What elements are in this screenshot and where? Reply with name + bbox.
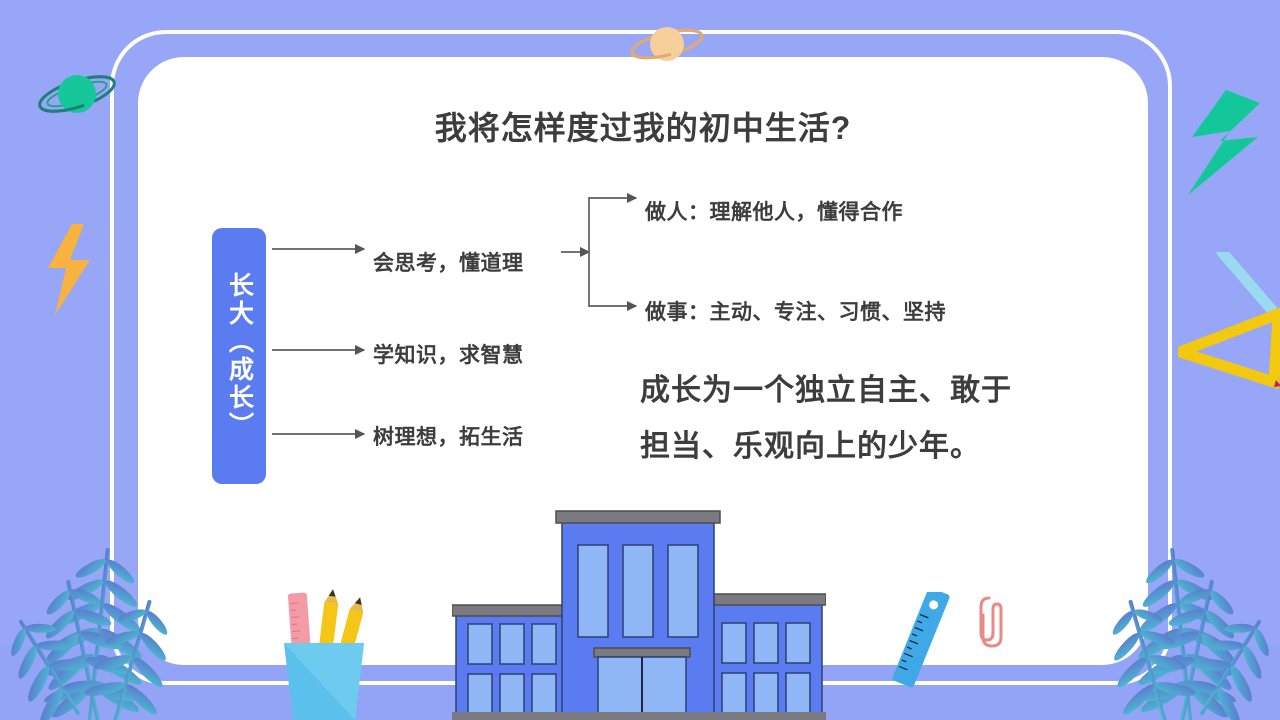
conclusion-line-2: 担当、乐观向上的少年。 [640, 419, 1060, 475]
palm-leaves-left-icon [0, 548, 230, 720]
slide-canvas: 我将怎样度过我的初中生活? 长大（成长） 会思考，懂道理 学知识，求智慧 树理想… [0, 0, 1280, 720]
triangle-ruler-and-pencil-group [1178, 252, 1280, 442]
conclusion-text: 成长为一个独立自主、敢于 担当、乐观向上的少年。 [640, 363, 1060, 474]
ruler-and-paperclip-group [885, 592, 1010, 687]
root-node-label: 长大（成长） [227, 272, 252, 440]
saturn-planet-orange-icon [629, 23, 706, 65]
branch-label-2: 学知识，求智慧 [373, 339, 524, 369]
branch-label-3: 树理想，拓生活 [373, 421, 524, 451]
paperclip-pink-icon [981, 598, 1001, 646]
lightning-bolt-teal-icon [1186, 85, 1262, 200]
triangle-ruler-yellow-icon [1180, 314, 1278, 382]
pencil-cup-group [262, 585, 374, 720]
sub-branch-label-2: 做事：主动、专注、习惯、坚持 [645, 296, 946, 326]
school-building-icon [452, 500, 826, 720]
pencil-light-blue-icon [1222, 252, 1277, 316]
branch-label-1: 会思考，懂道理 [373, 247, 524, 277]
conclusion-line-1: 成长为一个独立自主、敢于 [640, 363, 1060, 419]
cup-icon [284, 643, 364, 720]
root-node-box: 长大（成长） [212, 228, 266, 484]
sub-branch-label-1: 做人：理解他人，懂得合作 [645, 196, 903, 226]
palm-leaves-right-icon [1050, 548, 1280, 720]
page-title: 我将怎样度过我的初中生活? [138, 103, 1148, 149]
ruler-blue-icon [892, 592, 951, 687]
lightning-bolt-orange-icon [44, 222, 94, 317]
saturn-planet-green-icon [36, 70, 118, 118]
